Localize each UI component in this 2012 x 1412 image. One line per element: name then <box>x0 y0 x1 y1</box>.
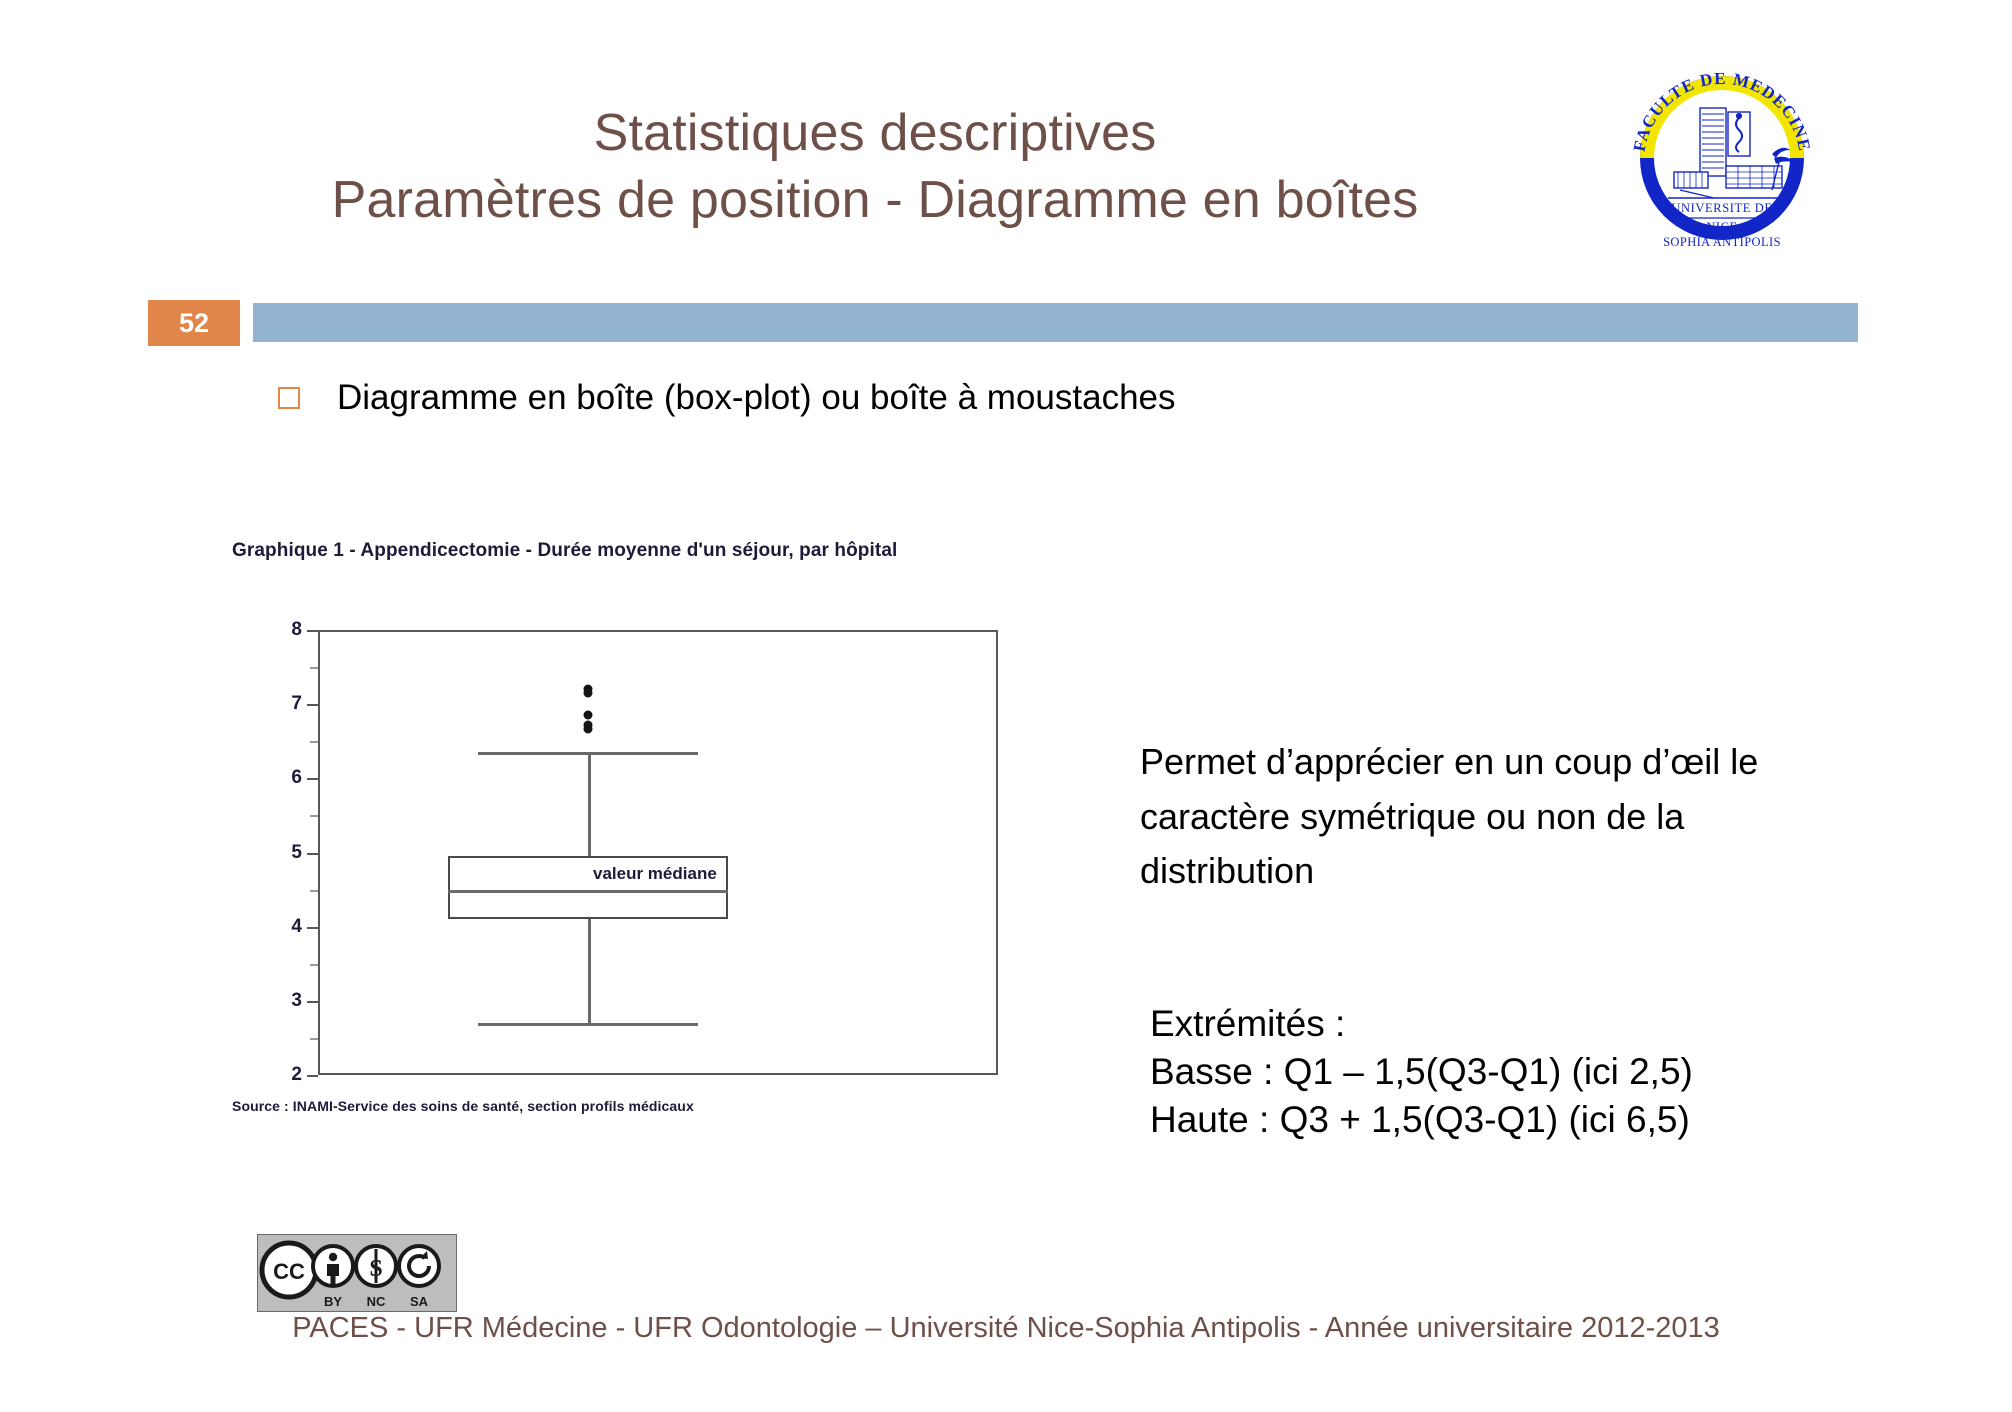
y-tick-major <box>307 1001 318 1003</box>
svg-text:SOPHIA ANTIPOLIS: SOPHIA ANTIPOLIS <box>1663 235 1781 249</box>
outlier-point <box>584 711 593 720</box>
y-tick-label: 4 <box>291 916 302 938</box>
outlier-point <box>584 725 593 734</box>
y-tick-label: 8 <box>291 619 302 641</box>
note-symmetry: Permet d’apprécier en un coup d’œil le c… <box>1140 735 1800 899</box>
y-tick-major <box>307 1075 318 1077</box>
footer-text: PACES - UFR Médecine - UFR Odontologie –… <box>0 1312 2012 1345</box>
title-line-1: Statistiques descriptives <box>150 100 1600 167</box>
university-logo: FACULTE DE MEDECINE <box>1622 58 1822 258</box>
upper-whisker-cap <box>478 752 698 755</box>
y-tick-major <box>307 927 318 929</box>
y-tick-minor <box>310 890 318 892</box>
creative-commons-badge: CC S BY NC SA <box>257 1234 457 1312</box>
lower-whisker-cap <box>478 1023 698 1026</box>
y-tick-minor <box>310 667 318 669</box>
y-tick-label: 6 <box>291 767 302 789</box>
note-extremities: Extrémités : Basse : Q1 – 1,5(Q3-Q1) (ic… <box>1150 1000 1830 1144</box>
note-extremities-high: Haute : Q3 + 1,5(Q3-Q1) (ici 6,5) <box>1150 1096 1830 1144</box>
y-tick-minor <box>310 964 318 966</box>
y-tick-label: 2 <box>291 1064 302 1086</box>
y-tick-label: 3 <box>291 990 302 1012</box>
lower-whisker-line <box>588 919 591 1023</box>
boxplot-chart: 8765432 valeur médiane <box>318 630 998 1075</box>
upper-whisker-line <box>588 752 591 856</box>
y-tick-major <box>307 704 318 706</box>
cc-by-label: BY <box>324 1294 342 1309</box>
bullet-item: Diagramme en boîte (box-plot) ou boîte à… <box>278 378 1176 418</box>
note-extremities-low: Basse : Q1 – 1,5(Q3-Q1) (ici 2,5) <box>1150 1048 1830 1096</box>
slide: Statistiques descriptives Paramètres de … <box>0 0 2012 1412</box>
page-title: Statistiques descriptives Paramètres de … <box>150 100 1600 233</box>
median-label: valeur médiane <box>593 864 717 884</box>
plot-frame <box>318 630 998 1075</box>
y-tick-major <box>307 853 318 855</box>
title-line-2: Paramètres de position - Diagramme en bo… <box>150 167 1600 234</box>
cc-sa-label: SA <box>410 1294 429 1309</box>
bullet-label: Diagramme en boîte (box-plot) ou boîte à… <box>337 378 1176 418</box>
outlier-point <box>584 689 593 698</box>
y-tick-label: 7 <box>291 693 302 715</box>
y-tick-label: 5 <box>291 842 302 864</box>
cc-nc-label: NC <box>367 1294 386 1309</box>
square-bullet-icon <box>278 387 300 409</box>
figure-source: Source : INAMI-Service des soins de sant… <box>232 1098 694 1114</box>
svg-text:UNIVERSITE DE: UNIVERSITE DE <box>1671 201 1772 215</box>
figure-title: Graphique 1 - Appendicectomie - Durée mo… <box>232 540 897 562</box>
y-tick-major <box>307 630 318 632</box>
svg-text:NICE: NICE <box>1706 220 1738 234</box>
svg-text:CC: CC <box>273 1259 305 1284</box>
header-band <box>253 303 1858 342</box>
y-tick-minor <box>310 741 318 743</box>
note-extremities-title: Extrémités : <box>1150 1000 1830 1048</box>
y-tick-major <box>307 778 318 780</box>
y-tick-minor <box>310 1038 318 1040</box>
page-number-badge: 52 <box>148 300 240 346</box>
median-line <box>448 890 728 893</box>
y-tick-minor <box>310 815 318 817</box>
